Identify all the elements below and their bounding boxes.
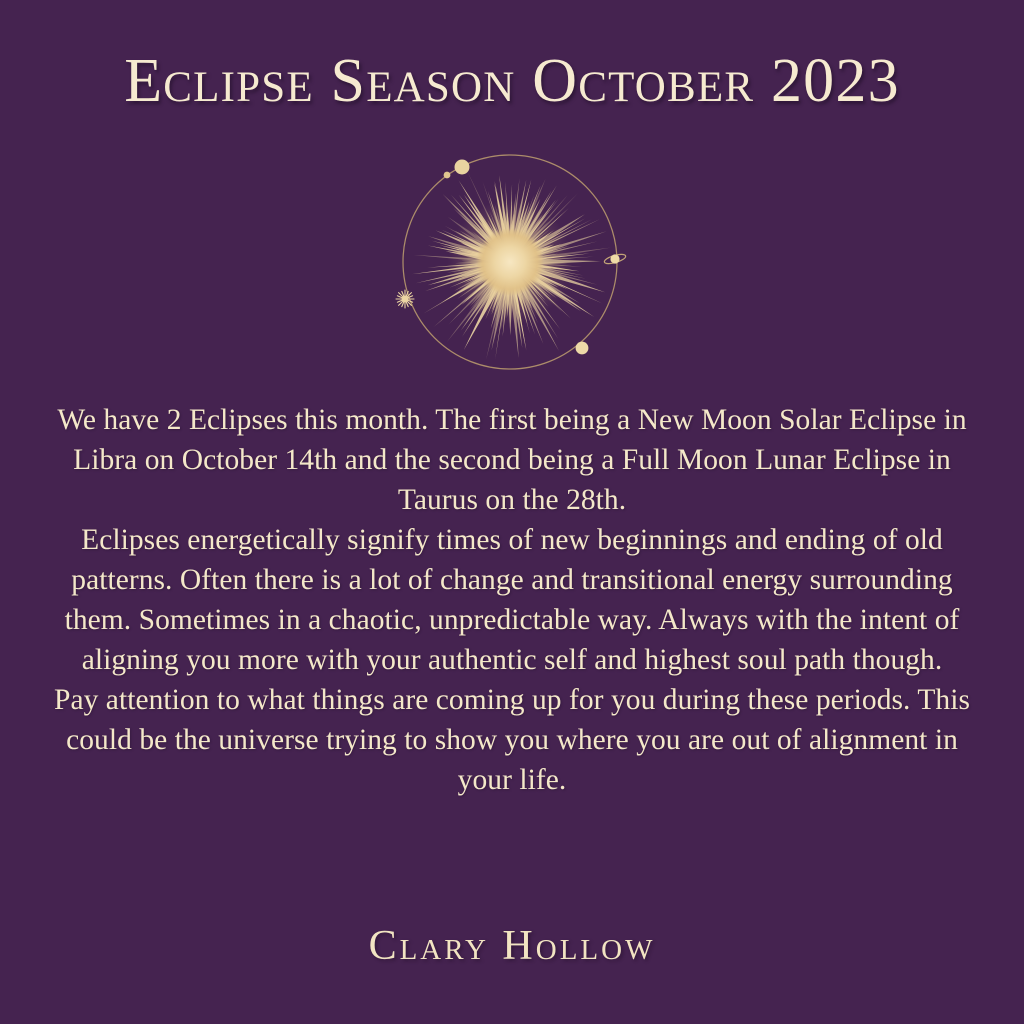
planet-small-top-left	[444, 172, 451, 179]
body-paragraph-1: We have 2 Eclipses this month. The first…	[36, 400, 988, 520]
sparkle-star-left	[396, 290, 414, 308]
body-copy: We have 2 Eclipses this month. The first…	[36, 400, 988, 800]
sun-core	[476, 228, 544, 296]
planet-ringed-right	[603, 253, 626, 266]
body-paragraph-2: Eclipses energetically signify times of …	[36, 520, 988, 680]
signature-author: Clary Hollow	[0, 920, 1024, 972]
planet-bottom-right	[576, 342, 589, 355]
body-paragraph-3: Pay attention to what things are coming …	[36, 680, 988, 800]
planet-large-top-left	[455, 160, 470, 175]
page-title: Eclipse Season October 2023	[0, 46, 1024, 116]
eclipse-season-poster: Eclipse Season October 2023	[0, 0, 1024, 1024]
